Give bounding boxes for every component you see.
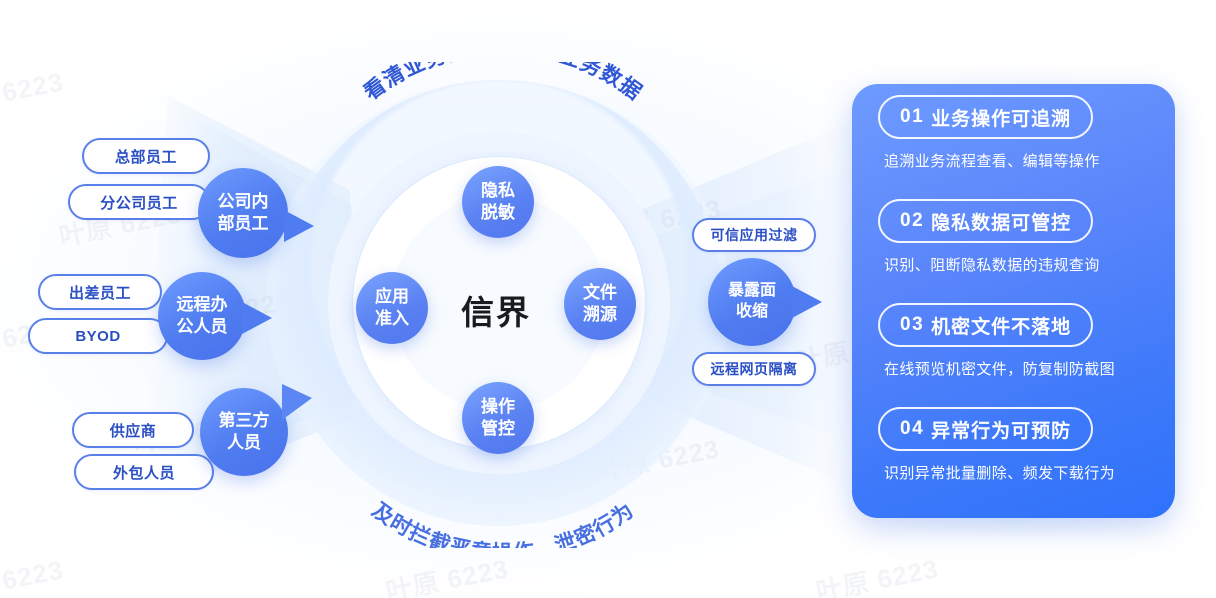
satellite-operation-control[interactable]: 操作 管控: [462, 382, 534, 454]
feature-title: 异常行为可预防: [931, 416, 1071, 443]
capability-panel: 01 业务操作可追溯 追溯业务流程查看、编辑等操作 02 隐私数据可管控 识别、…: [852, 84, 1175, 518]
bubble-line-1: 第三方: [219, 410, 270, 432]
pill-outsourced-staff[interactable]: 外包人员: [74, 454, 214, 490]
feature-chip[interactable]: 01 业务操作可追溯: [878, 95, 1093, 139]
feature-chip[interactable]: 02 隐私数据可管控: [878, 199, 1093, 243]
bubble-tail: [284, 210, 314, 242]
infographic-canvas: 6223叶原 62236223叶原 6223叶原 6223叶原 6223叶原 6…: [0, 0, 1216, 598]
satellite-line-2: 准入: [375, 308, 409, 330]
bubble-line-2: 收缩: [736, 302, 768, 323]
watermark: 叶原 6223: [813, 549, 942, 598]
satellite-line-1: 隐私: [481, 180, 515, 202]
bubble-tail: [282, 384, 312, 420]
bubble-internal-employee[interactable]: 公司内 部员工: [198, 168, 288, 258]
feature-chip[interactable]: 03 机密文件不落地: [878, 303, 1093, 347]
feature-number: 03: [900, 314, 924, 336]
feature-title: 业务操作可追溯: [931, 104, 1071, 131]
feature-desc: 识别、阻断隐私数据的违规查询: [884, 254, 1149, 275]
feature-item[interactable]: 04 异常行为可预防 识别异常批量删除、频发下载行为: [878, 407, 1149, 505]
feature-desc: 识别异常批量删除、频发下载行为: [884, 462, 1149, 483]
satellite-file-tracing[interactable]: 文件 溯源: [564, 268, 636, 340]
watermark: 6223: [0, 66, 66, 108]
feature-number: 04: [900, 418, 924, 440]
bubble-line-2: 部员工: [218, 213, 269, 235]
feature-title: 隐私数据可管控: [931, 208, 1071, 235]
core-title: 信界: [461, 286, 531, 334]
feature-item[interactable]: 03 机密文件不落地 在线预览机密文件，防复制防截图: [878, 303, 1149, 401]
pill-supplier[interactable]: 供应商: [72, 412, 194, 448]
pill-byod[interactable]: BYOD: [28, 318, 168, 354]
satellite-line-1: 文件: [583, 282, 617, 304]
satellite-line-2: 脱敏: [481, 202, 515, 224]
satellite-line-1: 操作: [481, 396, 515, 418]
bubble-tail: [242, 302, 272, 334]
feature-desc: 在线预览机密文件，防复制防截图: [884, 358, 1149, 379]
satellite-line-2: 溯源: [583, 304, 617, 326]
feature-chip[interactable]: 04 异常行为可预防: [878, 407, 1093, 451]
feature-item[interactable]: 01 业务操作可追溯 追溯业务流程查看、编辑等操作: [878, 95, 1149, 193]
bubble-line-1: 远程办: [177, 294, 228, 316]
pill-branch-employee[interactable]: 分公司员工: [68, 184, 210, 220]
feature-number: 02: [900, 210, 924, 232]
pill-headquarters-employee[interactable]: 总部员工: [82, 138, 210, 174]
satellite-application-access[interactable]: 应用 准入: [356, 272, 428, 344]
feature-item[interactable]: 02 隐私数据可管控 识别、阻断隐私数据的违规查询: [878, 199, 1149, 297]
pill-travelling-employee[interactable]: 出差员工: [38, 274, 162, 310]
feature-desc: 追溯业务流程查看、编辑等操作: [884, 150, 1149, 171]
pill-remote-browser-isolation[interactable]: 远程网页隔离: [692, 352, 816, 386]
satellite-line-1: 应用: [375, 286, 409, 308]
bubble-line-1: 公司内: [218, 191, 269, 213]
bubble-tail: [792, 286, 822, 318]
feature-number: 01: [900, 106, 924, 128]
bubble-attack-surface-reduction[interactable]: 暴露面 收缩: [708, 258, 796, 346]
satellite-privacy-masking[interactable]: 隐私 脱敏: [462, 166, 534, 238]
bubble-line-1: 暴露面: [728, 281, 776, 302]
bubble-remote-worker[interactable]: 远程办 公人员: [158, 272, 246, 360]
watermark: 叶原 6223: [383, 549, 512, 598]
pill-trusted-app-filter[interactable]: 可信应用过滤: [692, 218, 816, 252]
watermark: 6223: [0, 554, 66, 596]
bubble-line-2: 公人员: [177, 316, 228, 338]
bubble-line-2: 人员: [227, 432, 261, 454]
satellite-line-2: 管控: [481, 418, 515, 440]
bubble-third-party[interactable]: 第三方 人员: [200, 388, 288, 476]
feature-title: 机密文件不落地: [931, 312, 1071, 339]
